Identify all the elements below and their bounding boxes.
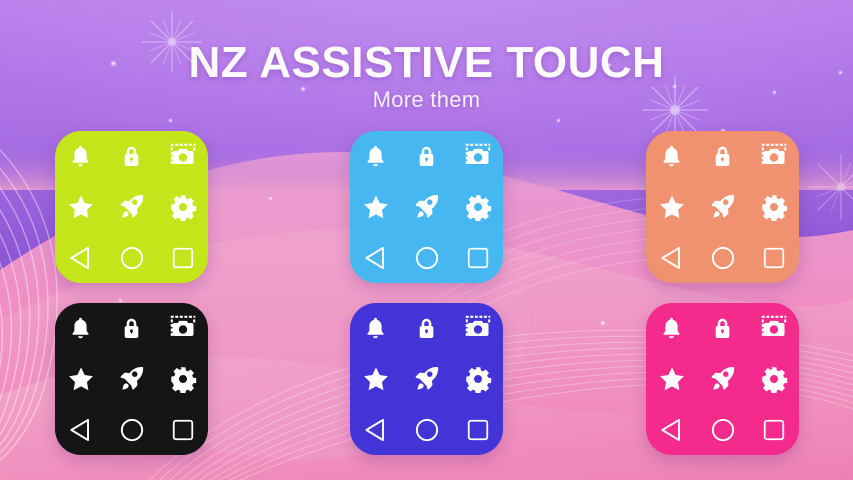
icon-cell-screenshot[interactable] <box>157 303 208 354</box>
assistive-touch-panel-lime[interactable] <box>55 131 208 283</box>
back-icon <box>658 416 686 444</box>
icon-cell-back[interactable] <box>55 404 106 455</box>
icon-cell-rocket[interactable] <box>697 354 748 405</box>
rocket-icon <box>412 364 441 393</box>
recents-icon <box>465 245 491 271</box>
icon-cell-gear[interactable] <box>157 182 208 233</box>
lock-icon <box>710 144 735 169</box>
lock-icon <box>710 316 735 341</box>
home-icon <box>413 244 441 272</box>
icon-cell-home[interactable] <box>106 232 157 283</box>
icon-cell-home[interactable] <box>106 404 157 455</box>
icon-cell-bell[interactable] <box>350 131 401 182</box>
icon-cell-rocket[interactable] <box>106 182 157 233</box>
gear-icon <box>464 193 492 221</box>
icon-cell-recents[interactable] <box>452 232 503 283</box>
promo-banner: NZ ASSISTIVE TOUCH More them <box>0 0 853 480</box>
lock-icon <box>414 144 439 169</box>
bell-icon <box>67 315 94 342</box>
icon-cell-bell[interactable] <box>350 303 401 354</box>
icon-cell-screenshot[interactable] <box>748 303 799 354</box>
gear-icon <box>169 365 197 393</box>
icon-cell-screenshot[interactable] <box>748 131 799 182</box>
back-icon <box>362 416 390 444</box>
icon-cell-star[interactable] <box>55 354 106 405</box>
star-icon <box>658 365 686 393</box>
icon-cell-star[interactable] <box>55 182 106 233</box>
gear-icon <box>760 365 788 393</box>
bell-icon <box>362 143 389 170</box>
star-icon <box>658 193 686 221</box>
back-icon <box>67 244 95 272</box>
gear-icon <box>169 193 197 221</box>
icon-cell-screenshot[interactable] <box>157 131 208 182</box>
icon-cell-rocket[interactable] <box>697 182 748 233</box>
icon-cell-recents[interactable] <box>452 404 503 455</box>
home-icon <box>118 416 146 444</box>
screenshot-icon <box>169 142 197 170</box>
icon-cell-screenshot[interactable] <box>452 303 503 354</box>
icon-cell-back[interactable] <box>55 232 106 283</box>
icon-cell-bell[interactable] <box>55 303 106 354</box>
screenshot-icon <box>464 314 492 342</box>
icon-cell-bell[interactable] <box>646 303 697 354</box>
icon-cell-back[interactable] <box>646 404 697 455</box>
icon-cell-bell[interactable] <box>55 131 106 182</box>
lock-icon <box>119 144 144 169</box>
icon-cell-gear[interactable] <box>748 182 799 233</box>
icon-cell-home[interactable] <box>401 404 452 455</box>
screenshot-icon <box>760 142 788 170</box>
icon-cell-star[interactable] <box>646 182 697 233</box>
assistive-touch-panel-magenta[interactable] <box>646 303 799 455</box>
page-title: NZ ASSISTIVE TOUCH <box>0 38 853 88</box>
bell-icon <box>658 143 685 170</box>
icon-cell-back[interactable] <box>350 404 401 455</box>
icon-cell-home[interactable] <box>697 232 748 283</box>
assistive-touch-panel-sky[interactable] <box>350 131 503 283</box>
rocket-icon <box>708 192 737 221</box>
icon-cell-back[interactable] <box>350 232 401 283</box>
icon-cell-lock[interactable] <box>401 131 452 182</box>
icon-cell-rocket[interactable] <box>401 182 452 233</box>
icon-cell-recents[interactable] <box>748 232 799 283</box>
home-icon <box>413 416 441 444</box>
icon-cell-lock[interactable] <box>106 303 157 354</box>
icon-cell-gear[interactable] <box>748 354 799 405</box>
lock-icon <box>119 316 144 341</box>
gear-icon <box>464 365 492 393</box>
bell-icon <box>658 315 685 342</box>
assistive-touch-panel-black[interactable] <box>55 303 208 455</box>
page-subtitle: More them <box>0 87 853 113</box>
icon-cell-gear[interactable] <box>452 182 503 233</box>
icon-cell-lock[interactable] <box>697 303 748 354</box>
star-icon <box>67 365 95 393</box>
star-icon <box>362 365 390 393</box>
icon-cell-star[interactable] <box>646 354 697 405</box>
home-icon <box>709 416 737 444</box>
recents-icon <box>170 417 196 443</box>
icon-cell-back[interactable] <box>646 232 697 283</box>
rocket-icon <box>117 364 146 393</box>
gear-icon <box>760 193 788 221</box>
rocket-icon <box>117 192 146 221</box>
icon-cell-gear[interactable] <box>452 354 503 405</box>
icon-cell-recents[interactable] <box>157 232 208 283</box>
icon-cell-home[interactable] <box>697 404 748 455</box>
back-icon <box>658 244 686 272</box>
back-icon <box>67 416 95 444</box>
icon-cell-recents[interactable] <box>157 404 208 455</box>
screenshot-icon <box>464 142 492 170</box>
screenshot-icon <box>760 314 788 342</box>
icon-cell-recents[interactable] <box>748 404 799 455</box>
assistive-touch-panel-indigo[interactable] <box>350 303 503 455</box>
star-icon <box>67 193 95 221</box>
icon-cell-rocket[interactable] <box>106 354 157 405</box>
bell-icon <box>362 315 389 342</box>
back-icon <box>362 244 390 272</box>
recents-icon <box>761 245 787 271</box>
icon-cell-star[interactable] <box>350 354 401 405</box>
icon-cell-bell[interactable] <box>646 131 697 182</box>
icon-cell-lock[interactable] <box>106 131 157 182</box>
icon-cell-gear[interactable] <box>157 354 208 405</box>
icon-cell-screenshot[interactable] <box>452 131 503 182</box>
screenshot-icon <box>169 314 197 342</box>
recents-icon <box>465 417 491 443</box>
home-icon <box>709 244 737 272</box>
icon-cell-lock[interactable] <box>697 131 748 182</box>
icon-cell-star[interactable] <box>350 182 401 233</box>
star-icon <box>362 193 390 221</box>
assistive-touch-panel-salmon[interactable] <box>646 131 799 283</box>
recents-icon <box>170 245 196 271</box>
rocket-icon <box>412 192 441 221</box>
rocket-icon <box>708 364 737 393</box>
icon-cell-home[interactable] <box>401 232 452 283</box>
bell-icon <box>67 143 94 170</box>
lock-icon <box>414 316 439 341</box>
icon-cell-rocket[interactable] <box>401 354 452 405</box>
recents-icon <box>761 417 787 443</box>
icon-cell-lock[interactable] <box>401 303 452 354</box>
home-icon <box>118 244 146 272</box>
